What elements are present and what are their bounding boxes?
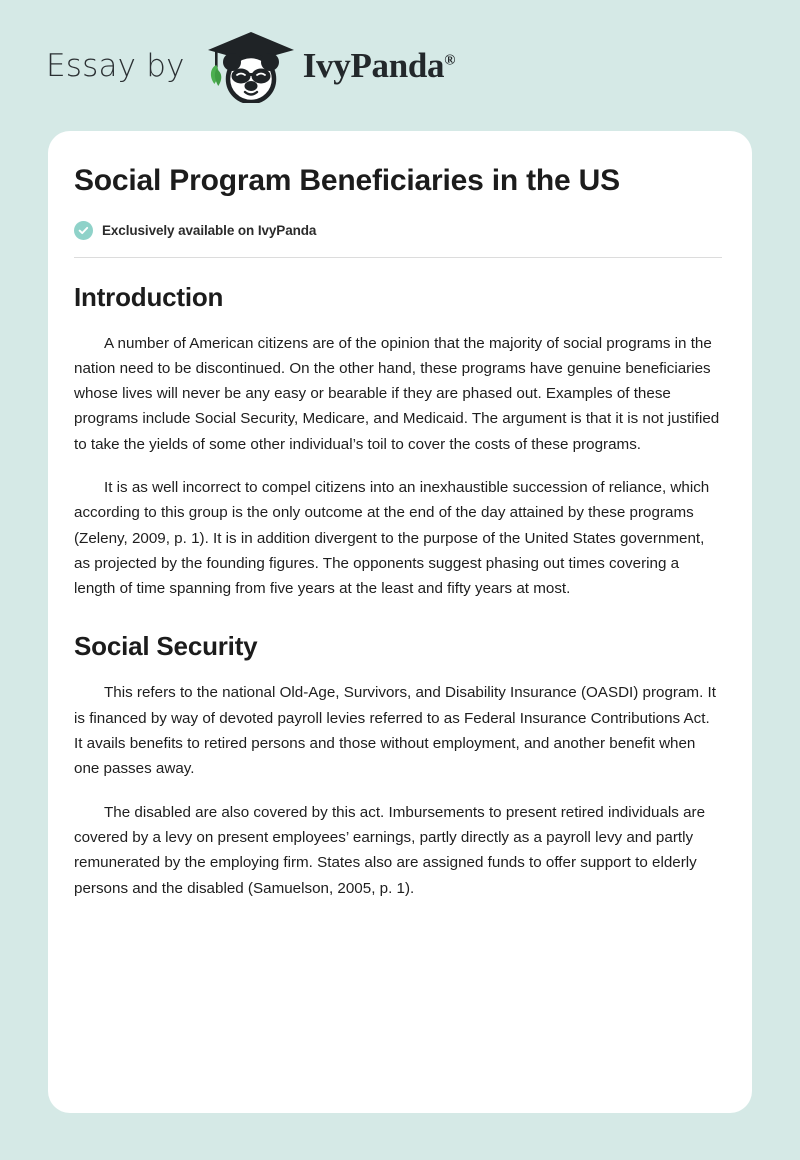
paragraph: A number of American citizens are of the… [74, 331, 722, 457]
exclusivity-badge: Exclusively available on IvyPanda [74, 221, 722, 240]
paragraph: The disabled are also covered by this ac… [74, 800, 722, 901]
paragraph: It is as well incorrect to compel citize… [74, 475, 722, 601]
page-title: Social Program Beneficiaries in the US [74, 164, 722, 199]
title-divider [74, 257, 722, 258]
exclusivity-label: Exclusively available on IvyPanda [102, 223, 316, 238]
wordmark-text: IvyPanda [303, 46, 445, 85]
ivypanda-wordmark: IvyPanda® [303, 46, 455, 86]
paragraph: This refers to the national Old-Age, Sur… [74, 680, 722, 781]
check-circle-icon [74, 221, 93, 240]
document-card: Social Program Beneficiaries in the US E… [48, 131, 752, 1113]
brand-header: Essay by [0, 0, 800, 131]
essay-by-label: Essay by [46, 48, 185, 84]
section-heading-introduction: Introduction [74, 282, 722, 313]
ivypanda-graduation-panda-icon [201, 29, 297, 103]
section-heading-social-security: Social Security [74, 631, 722, 662]
registered-trademark-mark: ® [444, 52, 455, 68]
